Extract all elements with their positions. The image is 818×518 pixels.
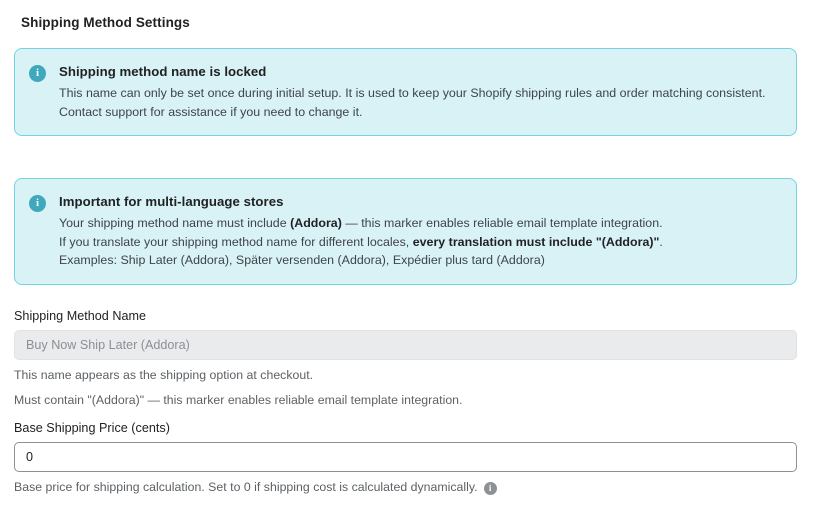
field-shipping-method-name: Shipping Method Name Buy Now Ship Later … bbox=[14, 308, 797, 410]
banner-title: Shipping method name is locked bbox=[59, 63, 780, 81]
banner-description: Your shipping method name must include (… bbox=[59, 214, 780, 270]
shipping-method-settings-page: Shipping Method Settings i Shipping meth… bbox=[0, 0, 818, 518]
banner-line: This name can only be set once during in… bbox=[59, 84, 780, 121]
banner-description: This name can only be set once during in… bbox=[59, 84, 780, 121]
shipping-method-name-label: Shipping Method Name bbox=[14, 308, 797, 325]
banner-line: If you translate your shipping method na… bbox=[59, 233, 780, 252]
banner-line: Examples: Ship Later (Addora), Später ve… bbox=[59, 251, 780, 270]
banner-line: Your shipping method name must include (… bbox=[59, 214, 780, 233]
shipping-method-name-input[interactable]: Buy Now Ship Later (Addora) bbox=[14, 330, 797, 360]
info-icon[interactable]: i bbox=[484, 482, 497, 495]
shipping-method-name-helper-2: Must contain "(Addora)" — this marker en… bbox=[14, 390, 797, 410]
banner-body: Shipping method name is locked This name… bbox=[59, 63, 780, 121]
banner-multi-language-stores: i Important for multi-language stores Yo… bbox=[14, 178, 797, 285]
banner-body: Important for multi-language stores Your… bbox=[59, 193, 780, 270]
banner-shipping-name-locked: i Shipping method name is locked This na… bbox=[14, 48, 797, 136]
shipping-method-name-helper-1: This name appears as the shipping option… bbox=[14, 365, 797, 385]
base-shipping-price-label: Base Shipping Price (cents) bbox=[14, 420, 797, 437]
banner-title: Important for multi-language stores bbox=[59, 193, 780, 211]
page-title: Shipping Method Settings bbox=[21, 0, 797, 32]
info-icon: i bbox=[29, 195, 46, 212]
info-icon: i bbox=[29, 65, 46, 82]
field-base-shipping-price: Base Shipping Price (cents) 0 Base price… bbox=[14, 420, 797, 497]
base-shipping-price-helper: Base price for shipping calculation. Set… bbox=[14, 477, 478, 497]
base-shipping-price-input[interactable]: 0 bbox=[14, 442, 797, 472]
base-shipping-price-helper-row: Base price for shipping calculation. Set… bbox=[14, 477, 797, 497]
